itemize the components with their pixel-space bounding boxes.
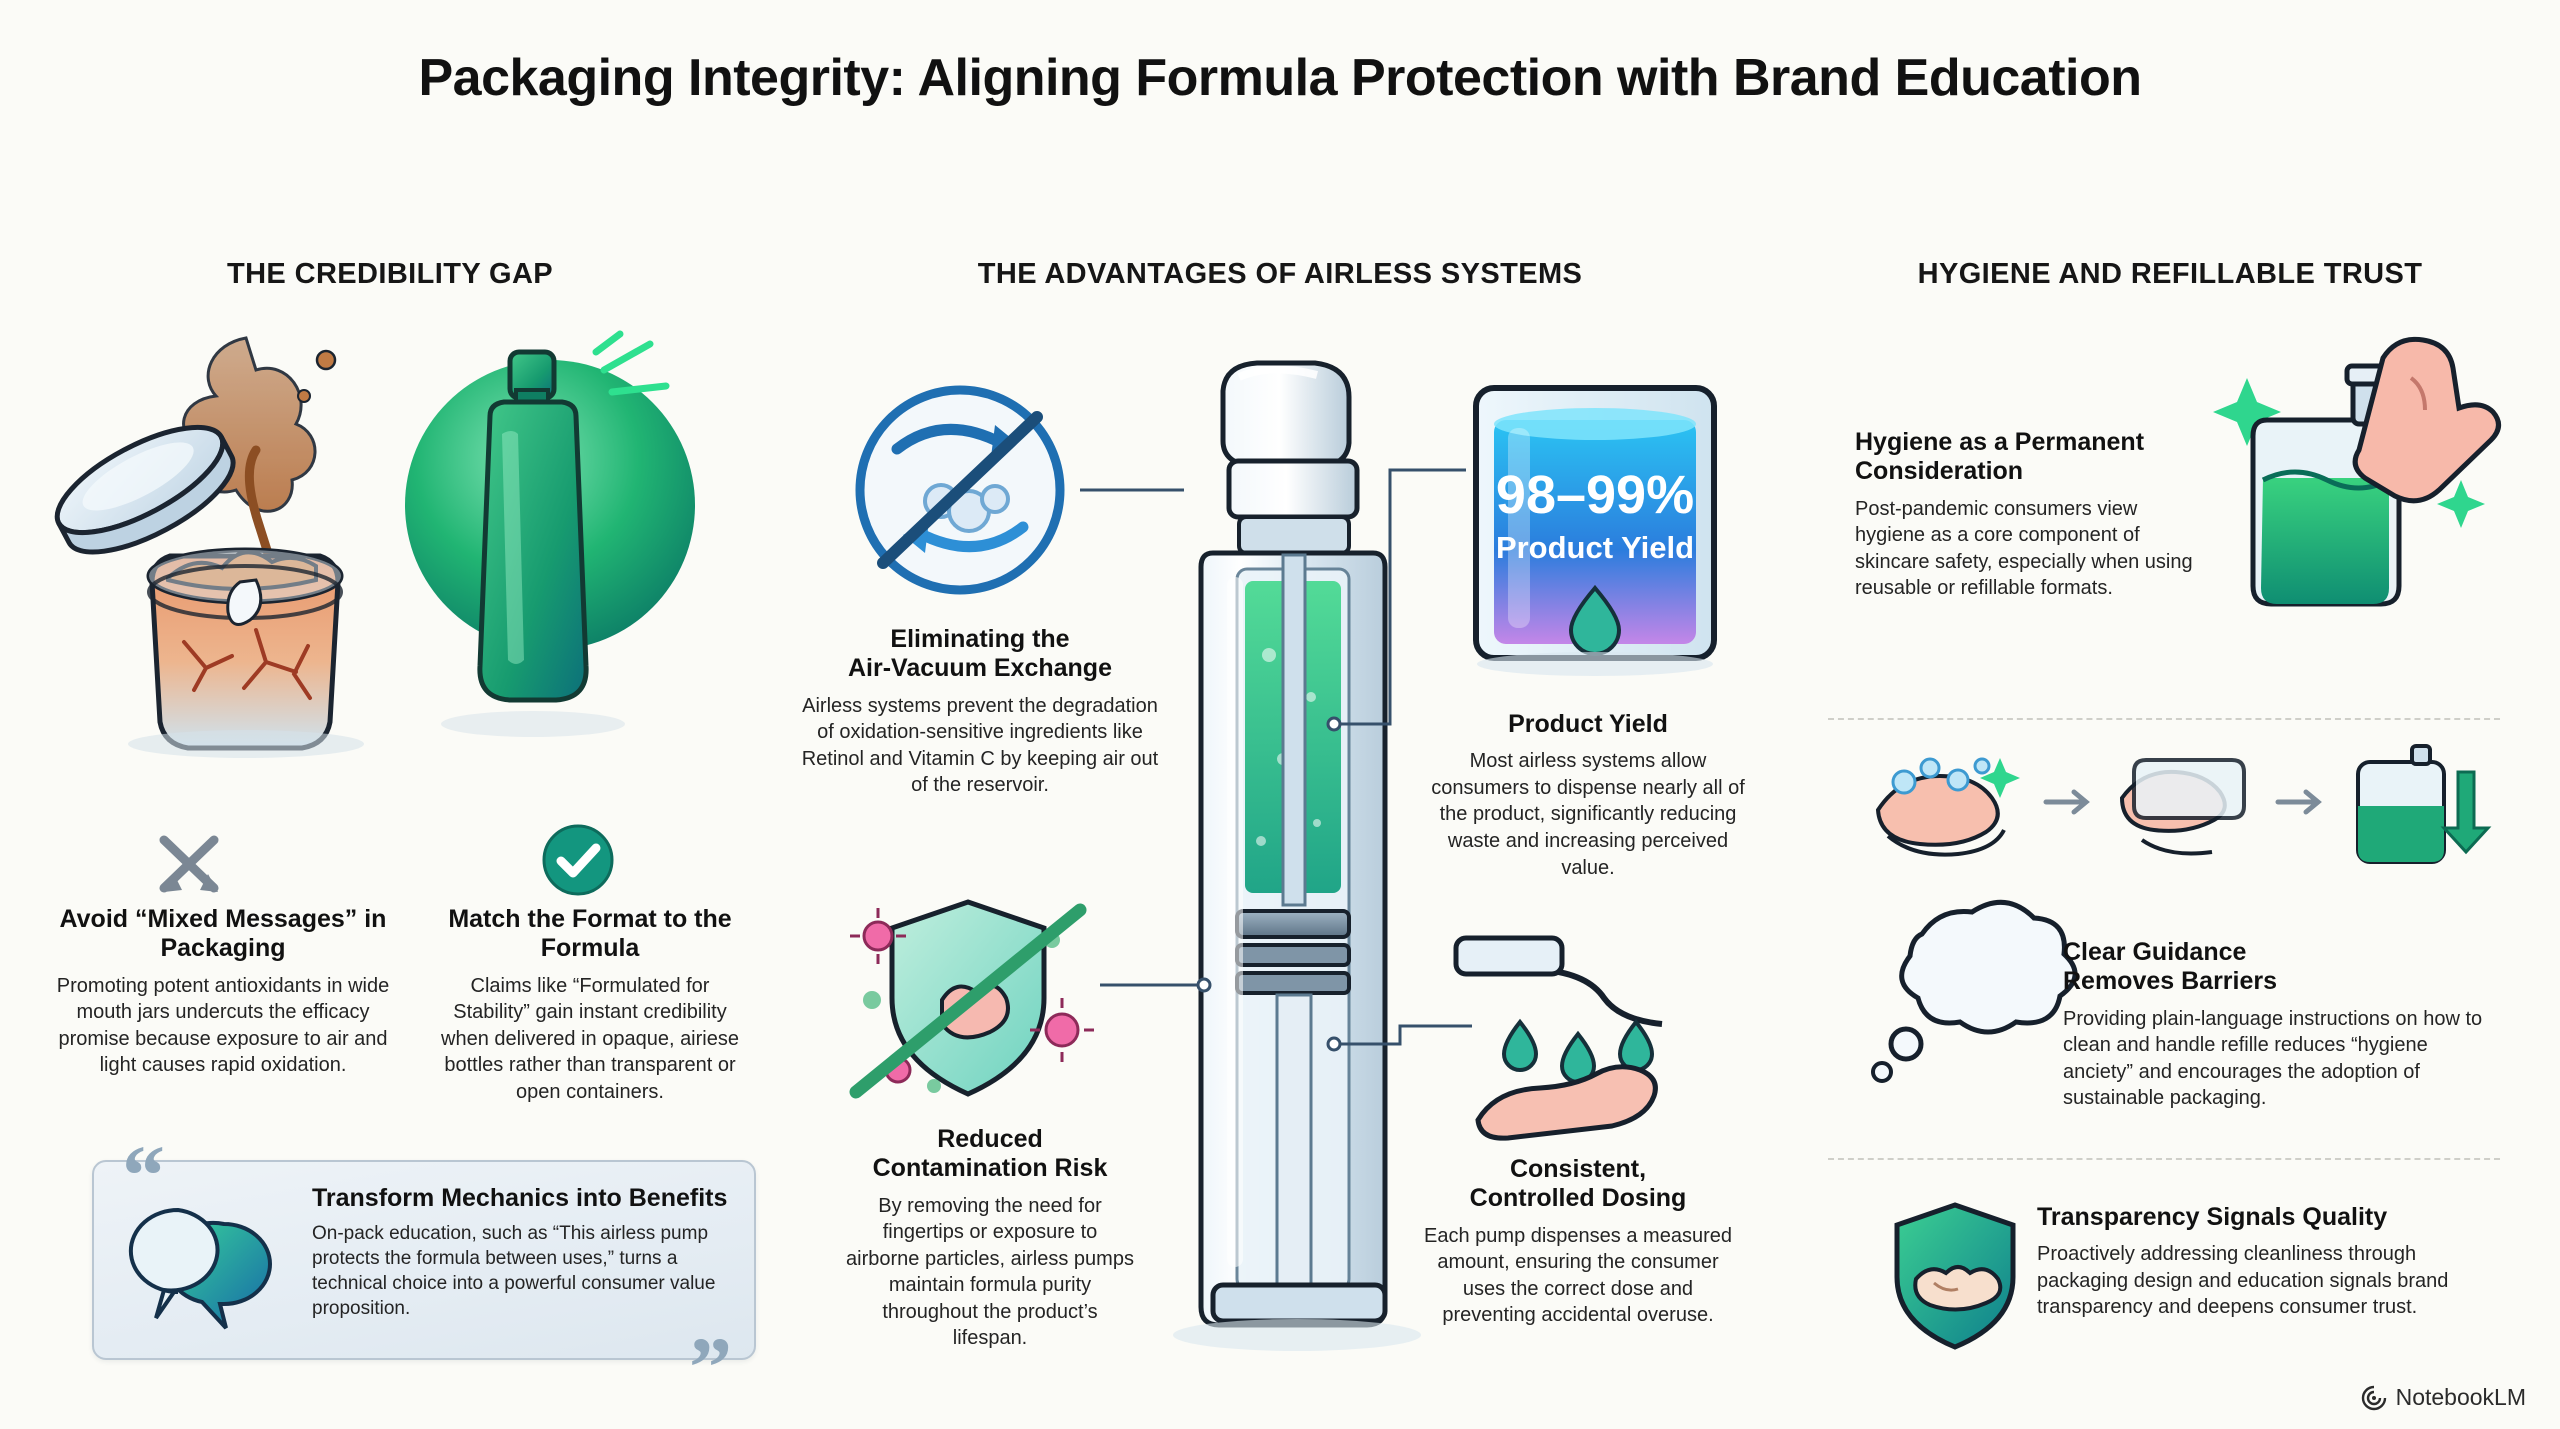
section-divider-1 [1828,718,2500,720]
card-reduced-contamination-risk: Reduced Contamination Risk By removing t… [845,1125,1135,1352]
card-clear-guidance-removes-barriers: Clear Guidance Removes Barriers Providin… [2063,938,2503,1112]
card-body: Claims like “Formulated for Stability” g… [430,973,750,1106]
section-header-airless-systems: THE ADVANTAGES OF AIRLESS SYSTEMS [840,258,1720,291]
card-heading-line2: Controlled Dosing [1470,1184,1687,1212]
speech-bubbles-icon [128,1200,278,1330]
card-heading-line1: Hygiene as a Permanent [1855,428,2144,456]
watermark-label: NotebookLM [2396,1384,2526,1411]
card-heading-line1: Clear Guidance [2063,938,2246,966]
card-transparency-signals-quality: Transparency Signals Quality Proactively… [2037,1203,2502,1321]
close-quote-mark: ” [689,1324,732,1410]
card-body: Providing plain-language instructions on… [2063,1006,2503,1112]
cross-arrows-icon [152,830,230,900]
check-circle-icon [540,822,616,898]
arrow-right-icon [2046,792,2086,812]
quote-body-text: On-pack education, such as “This airless… [312,1221,732,1321]
connector-line-top-right [1330,450,1470,750]
card-heading: Avoid “Mixed Messages” in Packaging [48,905,398,964]
shield-germ-icon [838,880,1098,1110]
card-body: Airless systems prevent the degradation … [800,693,1160,799]
card-hygiene-permanent-consideration: Hygiene as a Permanent Consideration Pos… [1855,428,2200,602]
section-header-hygiene-refillable: HYGIENE AND REFILLABLE TRUST [1820,258,2520,291]
card-avoid-mixed-messages: Avoid “Mixed Messages” in Packaging Prom… [48,905,398,1079]
card-heading: Eliminating the Air-Vacuum Exchange [800,625,1160,684]
card-body: Proactively addressing cleanliness throu… [2037,1241,2502,1321]
connector-line-bottom-left [1100,965,1210,1005]
card-heading-line2: Air-Vacuum Exchange [848,654,1112,682]
cracked-jar-illustration [60,330,430,760]
refill-pouch-icon [2358,746,2488,862]
card-heading: Consistent, Controlled Dosing [1418,1155,1738,1214]
page-title: Packaging Integrity: Aligning Formula Pr… [0,48,2560,108]
arrow-right-icon [2278,792,2318,812]
card-heading-line2: Removes Barriers [2063,967,2277,995]
green-airless-bottle-illustration [390,330,730,760]
wash-hands-icon [1878,758,2020,855]
card-body: Each pump dispenses a measured amount, e… [1418,1223,1738,1329]
card-heading: Clear Guidance Removes Barriers [2063,938,2503,997]
card-heading: Product Yield [1428,710,1748,739]
card-consistent-controlled-dosing: Consistent, Controlled Dosing Each pump … [1418,1155,1738,1329]
card-heading-line2: Contamination Risk [873,1154,1108,1182]
card-body: By removing the need for fingertips or e… [845,1193,1135,1353]
quote-card-transform-mechanics: “ ” Transform Mechanics into Benefits On… [92,1160,756,1360]
thought-bubble-icon [1862,900,2072,1090]
quote-heading: Transform Mechanics into Benefits [312,1184,732,1213]
beaker-label: Product Yield [1496,530,1694,565]
beaker-value: 98–99% [1496,465,1694,525]
hygiene-steps-row [1860,740,2500,870]
notebooklm-logo-icon [2361,1385,2387,1411]
card-heading-line1: Eliminating the [890,625,1069,653]
connector-line-top-left [1080,470,1190,510]
notebooklm-watermark: NotebookLM [2361,1384,2526,1411]
section-divider-2 [1828,1158,2500,1160]
card-heading-line1: Reduced [937,1125,1043,1153]
card-body: Most airless systems allow consumers to … [1428,748,1748,881]
card-eliminating-air-vacuum: Eliminating the Air-Vacuum Exchange Airl… [800,625,1160,799]
infographic-page: Packaging Integrity: Aligning Formula Pr… [0,0,2560,1429]
card-heading-line1: Consistent, [1510,1155,1646,1183]
no-air-exchange-icon [845,375,1075,605]
card-product-yield: Product Yield Most airless systems allow… [1428,710,1748,881]
card-heading: Transparency Signals Quality [2037,1203,2502,1232]
card-heading: Hygiene as a Permanent Consideration [1855,428,2200,487]
card-heading-line2: Consideration [1855,457,2023,485]
card-match-format-to-formula: Match the Format to the Formula Claims l… [430,905,750,1105]
wipe-cloth-icon [2122,760,2244,854]
shield-handshake-icon [1880,1195,2030,1355]
card-body: Promoting potent antioxidants in wide mo… [48,973,398,1079]
dropper-hand-icon [1442,930,1712,1160]
hand-refill-pouch-icon [2215,330,2515,640]
card-heading: Reduced Contamination Risk [845,1125,1135,1184]
beaker-product-yield-illustration: 98–99% Product Yield [1460,378,1730,678]
section-header-credibility-gap: THE CREDIBILITY GAP [40,258,740,291]
card-body: Post-pandemic consumers view hygiene as … [1855,496,2200,602]
card-heading: Match the Format to the Formula [430,905,750,964]
